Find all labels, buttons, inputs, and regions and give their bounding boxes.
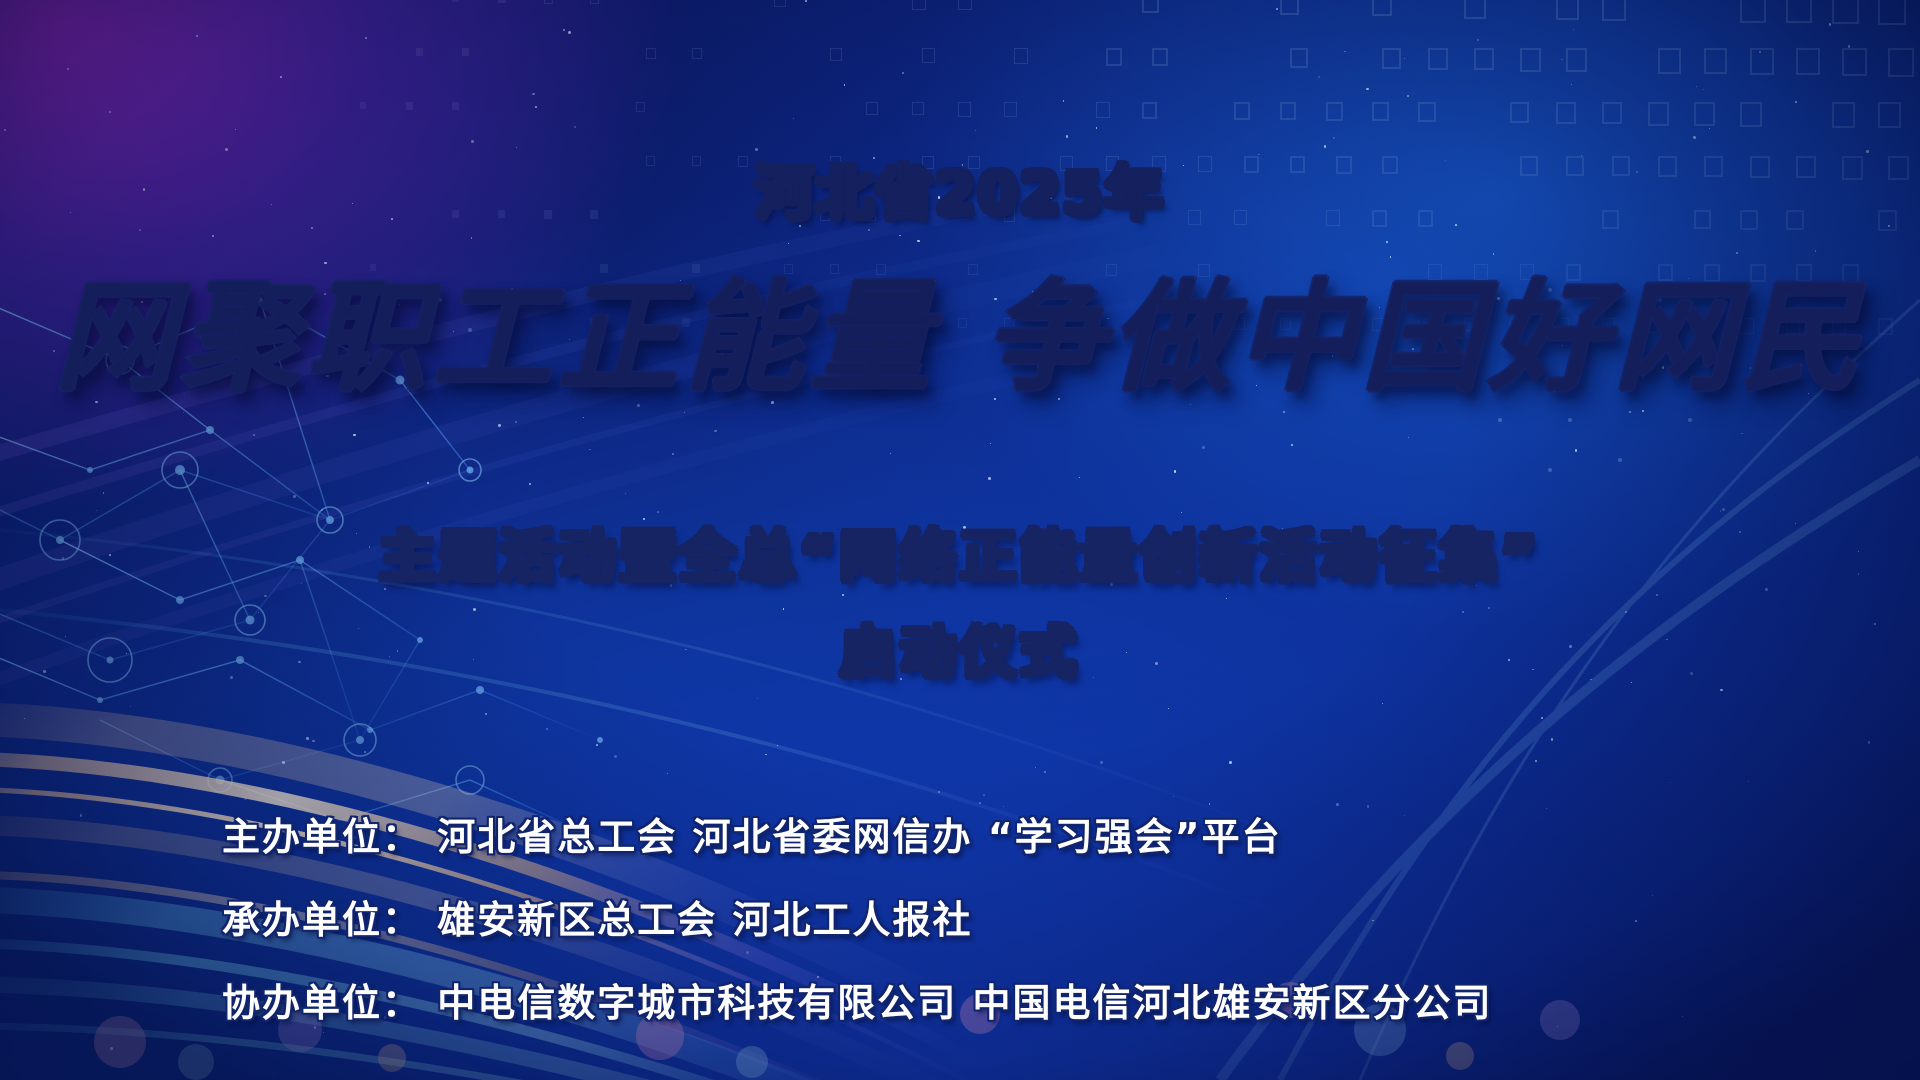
poster-headline-text: 网聚职工正能量 争做中国好网民	[54, 267, 1866, 408]
poster-year-line: 河北省2025年	[0, 146, 1920, 230]
organizer-line-coorganizer: 协办单位： 中电信数字城市科技有限公司 中国电信河北雄安新区分公司	[222, 972, 1492, 1027]
poster-subtitle-text: 主题活动暨全总“网络正能量创新活动征集”	[379, 525, 1541, 590]
poster-subtitle: 主题活动暨全总“网络正能量创新活动征集”	[0, 512, 1920, 593]
poster-content: 河北省2025年 网聚职工正能量 争做中国好网民 主题活动暨全总“网络正能量创新…	[0, 0, 1920, 1080]
poster-ceremony-text: 启动仪式	[840, 621, 1080, 686]
poster-ceremony-line: 启动仪式	[0, 608, 1920, 689]
poster-year-text: 河北省2025年	[755, 159, 1164, 227]
poster-headline: 网聚职工正能量 争做中国好网民	[0, 240, 1920, 414]
organizer-line-organizer: 承办单位： 雄安新区总工会 河北工人报社	[222, 889, 1492, 944]
organizer-line-host: 主办单位： 河北省总工会 河北省委网信办 “学习强会”平台	[222, 806, 1492, 861]
organizer-block: 主办单位： 河北省总工会 河北省委网信办 “学习强会”平台 承办单位： 雄安新区…	[222, 806, 1492, 1027]
poster-canvas: 河北省2025年 网聚职工正能量 争做中国好网民 主题活动暨全总“网络正能量创新…	[0, 0, 1920, 1080]
